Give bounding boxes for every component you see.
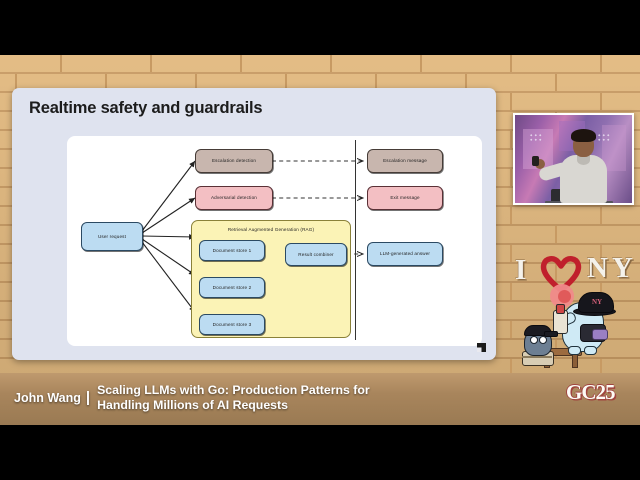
node-document-store-2: Document store 2 bbox=[199, 277, 265, 298]
speaker-hair bbox=[571, 129, 596, 142]
gopher-foot bbox=[568, 346, 581, 355]
diagram-card: User request Escalation detection Advers… bbox=[67, 136, 482, 346]
graffiti-letter-i: I bbox=[515, 256, 526, 285]
node-label: LLM-generated answer bbox=[380, 251, 430, 257]
node-label: Document store 2 bbox=[213, 285, 252, 291]
slide-title: Realtime safety and guardrails bbox=[29, 99, 262, 118]
talk-title-line-1: Scaling LLMs with Go: Production Pattern… bbox=[97, 383, 370, 398]
graffiti-letter-y: Y bbox=[612, 254, 633, 283]
node-label: User request bbox=[98, 234, 126, 240]
gopher-mascot-small bbox=[522, 325, 558, 365]
gopher-mascot-large: NY bbox=[556, 288, 612, 360]
spray-paint-core bbox=[558, 290, 571, 303]
stream-frame: Realtime safety and guardrails bbox=[0, 0, 640, 480]
backpack-strap bbox=[522, 356, 552, 358]
speaker-webcam bbox=[513, 113, 634, 205]
letterbox-bottom bbox=[0, 425, 640, 480]
conference-logo: GC25 bbox=[566, 380, 615, 405]
node-document-store-3: Document store 3 bbox=[199, 314, 265, 335]
node-label: Document store 3 bbox=[213, 322, 252, 328]
speaker-name: John Wang bbox=[14, 391, 81, 405]
node-label: Document store 1 bbox=[213, 248, 252, 254]
gopher-foot bbox=[584, 346, 597, 355]
caption-separator: | bbox=[86, 389, 90, 406]
cap-logo: NY bbox=[592, 298, 602, 306]
cap-brim bbox=[544, 331, 558, 337]
stage-dots bbox=[529, 133, 543, 143]
stage-dots bbox=[597, 133, 611, 143]
gopher-eye bbox=[530, 336, 538, 344]
node-user-request: User request bbox=[81, 222, 143, 251]
presenter-clicker-icon bbox=[532, 156, 539, 166]
group-rag-label: Retrieval Augmented Generation (RAG) bbox=[192, 227, 350, 232]
talk-title: Scaling LLMs with Go: Production Pattern… bbox=[97, 383, 370, 412]
node-adversarial-detection: Adversarial detection bbox=[195, 186, 273, 210]
spray-can-cap bbox=[556, 304, 565, 314]
node-result-combiner: Result combiner bbox=[285, 243, 347, 266]
node-label: Exit message bbox=[390, 195, 419, 201]
node-label: Escalation detection bbox=[212, 158, 256, 164]
slide-corner-mark bbox=[477, 343, 486, 352]
node-document-store-1: Document store 1 bbox=[199, 240, 265, 261]
graffiti-letter-n: N bbox=[587, 254, 608, 283]
gopher-bag-pocket bbox=[592, 329, 608, 340]
lower-third-caption: John Wang | Scaling LLMs with Go: Produc… bbox=[0, 370, 640, 425]
presentation-slide: Realtime safety and guardrails bbox=[12, 88, 496, 360]
node-label: Escalation message bbox=[383, 158, 427, 164]
node-llm-generated-answer: LLM-generated answer bbox=[367, 242, 443, 266]
node-escalation-detection: Escalation detection bbox=[195, 149, 273, 173]
node-escalation-message: Escalation message bbox=[367, 149, 443, 173]
node-exit-message: Exit message bbox=[367, 186, 443, 210]
node-label: Result combiner bbox=[298, 252, 333, 258]
gopher-eye bbox=[539, 336, 547, 344]
diagram-divider bbox=[355, 140, 356, 340]
node-label: Adversarial detection bbox=[211, 195, 257, 201]
letterbox-top bbox=[0, 0, 640, 55]
talk-title-line-2: Handling Millions of AI Requests bbox=[97, 398, 370, 413]
